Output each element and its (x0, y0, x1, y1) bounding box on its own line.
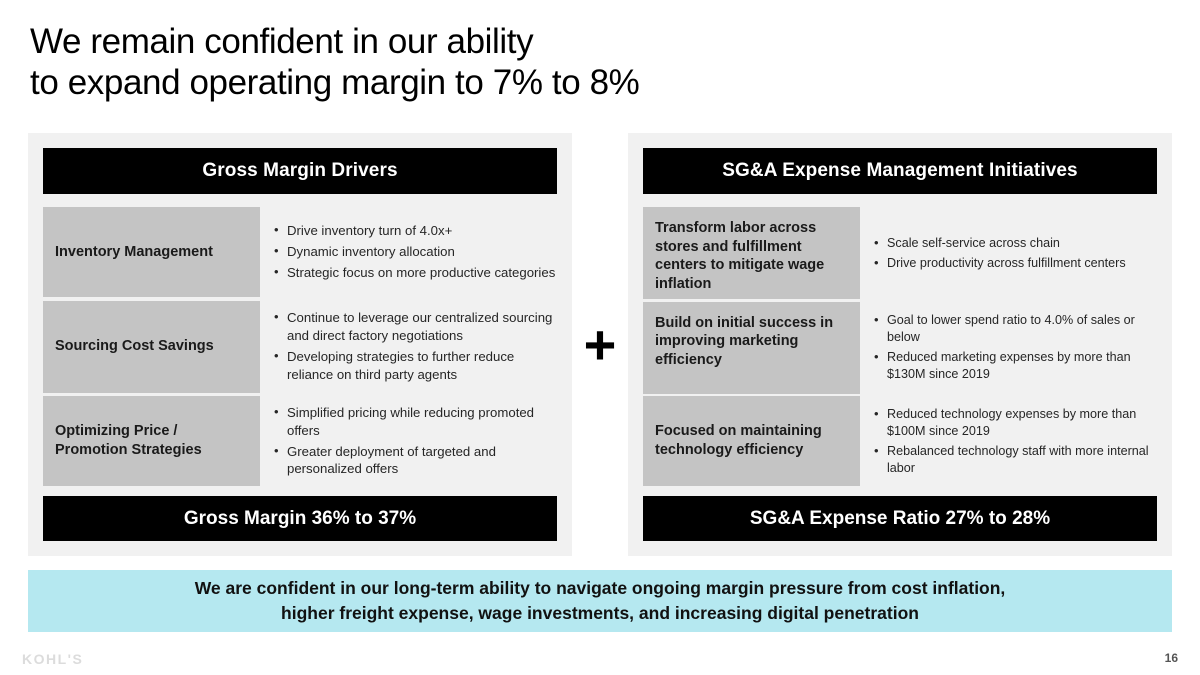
panel-header-gross-margin: Gross Margin Drivers (43, 148, 557, 194)
panel-rows-gross-margin: Inventory Management Drive inventory tur… (43, 194, 557, 496)
driver-label: Sourcing Cost Savings (43, 301, 260, 393)
list-item: Simplified pricing while reducing promot… (274, 404, 557, 440)
list-item: Scale self-service across chain (874, 235, 1157, 252)
list-item: Drive inventory turn of 4.0x+ (274, 222, 557, 240)
list-item: Reduced technology expenses by more than… (874, 406, 1157, 440)
list-item: Rebalanced technology staff with more in… (874, 443, 1157, 477)
driver-label: Optimizing Price / Promotion Strategies (43, 396, 260, 486)
initiative-label: Build on initial success in improving ma… (643, 302, 860, 394)
initiative-row: Transform labor across stores and fulfil… (643, 207, 1157, 299)
list-item: Greater deployment of targeted and perso… (274, 443, 557, 479)
initiative-label: Transform labor across stores and fulfil… (643, 207, 860, 299)
driver-row: Sourcing Cost Savings Continue to levera… (43, 301, 557, 393)
initiative-row: Focused on maintaining technology effici… (643, 396, 1157, 486)
list-item: Reduced marketing expenses by more than … (874, 349, 1157, 383)
panel-footer-gross-margin: Gross Margin 36% to 37% (43, 496, 557, 541)
plus-icon: + (584, 317, 617, 373)
initiative-bullets: Reduced technology expenses by more than… (860, 396, 1157, 486)
plus-divider: + (572, 133, 628, 556)
list-item: Developing strategies to further reduce … (274, 348, 557, 384)
list-item: Continue to leverage our centralized sou… (274, 309, 557, 345)
driver-label: Inventory Management (43, 207, 260, 297)
page-title: We remain confident in our ability to ex… (30, 22, 1030, 104)
summary-banner: We are confident in our long-term abilit… (28, 570, 1172, 632)
driver-row: Inventory Management Drive inventory tur… (43, 207, 557, 297)
panel-gross-margin-drivers: Gross Margin Drivers Inventory Managemen… (28, 133, 572, 556)
initiative-bullets: Goal to lower spend ratio to 4.0% of sal… (860, 302, 1157, 394)
panel-header-sga-expense: SG&A Expense Management Initiatives (643, 148, 1157, 194)
list-item: Drive productivity across fulfillment ce… (874, 255, 1157, 272)
summary-banner-text: We are confident in our long-term abilit… (195, 576, 1006, 626)
panel-rows-sga-expense: Transform labor across stores and fulfil… (643, 194, 1157, 496)
driver-bullets: Simplified pricing while reducing promot… (260, 396, 557, 486)
panel-footer-sga-expense: SG&A Expense Ratio 27% to 28% (643, 496, 1157, 541)
driver-row: Optimizing Price / Promotion Strategies … (43, 396, 557, 486)
driver-bullets: Continue to leverage our centralized sou… (260, 301, 557, 393)
panel-sga-expense-management: SG&A Expense Management Initiatives Tran… (628, 133, 1172, 556)
initiative-bullets: Scale self-service across chain Drive pr… (860, 207, 1157, 299)
list-item: Dynamic inventory allocation (274, 243, 557, 261)
page-number: 16 (1165, 651, 1178, 665)
driver-bullets: Drive inventory turn of 4.0x+ Dynamic in… (260, 207, 557, 297)
initiative-row: Build on initial success in improving ma… (643, 302, 1157, 394)
list-item: Strategic focus on more productive categ… (274, 264, 557, 282)
panels-container: Gross Margin Drivers Inventory Managemen… (28, 133, 1172, 556)
initiative-label: Focused on maintaining technology effici… (643, 396, 860, 486)
list-item: Goal to lower spend ratio to 4.0% of sal… (874, 312, 1157, 346)
kohls-logo: KOHL'S (22, 651, 83, 667)
